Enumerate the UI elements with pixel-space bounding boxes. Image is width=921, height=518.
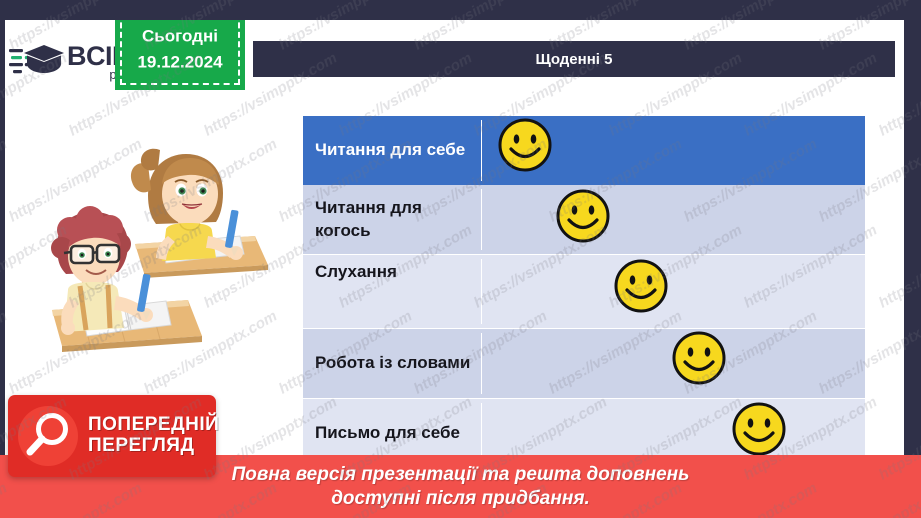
column-divider: [481, 120, 482, 181]
preview-badge[interactable]: ПОПЕРЕДНІЙ ПЕРЕГЛЯД: [8, 395, 216, 477]
table-row-label: Робота із словами: [303, 352, 481, 375]
slide-title-bar: Щоденні 5: [253, 41, 895, 77]
smiley-face-icon: [497, 117, 553, 173]
smiley-face-icon: [671, 330, 727, 386]
table-row-label: Читання для когось: [303, 197, 481, 243]
smiley-face-icon: [555, 188, 611, 244]
preview-badge-text: ПОПЕРЕДНІЙ ПЕРЕГЛЯД: [88, 415, 219, 456]
table-row-label: Читання для себе: [303, 139, 481, 162]
date-badge-value: 19.12.2024: [115, 49, 245, 75]
date-badge-label: Сьогодні: [115, 24, 245, 50]
banner-line-1: Повна версія презентації та решта доповн…: [232, 463, 690, 487]
table-row-label: Письмо для себе: [303, 422, 481, 445]
smiley-face-icon: [613, 258, 669, 314]
graduation-cap-icon: [9, 42, 65, 82]
table-row[interactable]: Слухання: [303, 255, 865, 328]
page-title: Щоденні 5: [536, 51, 613, 68]
table-row[interactable]: Робота із словами: [303, 329, 865, 398]
children-writing-illustration: [40, 140, 275, 375]
preview-line-1: ПОПЕРЕДНІЙ: [88, 415, 219, 436]
date-badge-text: Сьогодні 19.12.2024: [115, 24, 245, 75]
preview-line-2: ПЕРЕГЛЯД: [88, 436, 219, 457]
table-row[interactable]: Читання для себе: [303, 116, 865, 185]
daily5-table: Читання для себе Читання для когось Слух…: [303, 95, 865, 458]
table-row-label: Слухання: [303, 261, 481, 284]
smiley-face-icon: [731, 401, 787, 457]
today-date-badge: Сьогодні 19.12.2024: [115, 20, 245, 90]
column-divider: [481, 333, 482, 394]
column-divider: [481, 189, 482, 250]
slide-frame: BCIM pptx Сьогодні 19.12.2024 Щоденні 5: [0, 0, 921, 518]
boy-figure: [51, 206, 153, 335]
magnifier-icon: [18, 406, 78, 466]
column-divider: [481, 259, 482, 324]
banner-line-2: доступні після придбання.: [331, 487, 590, 511]
